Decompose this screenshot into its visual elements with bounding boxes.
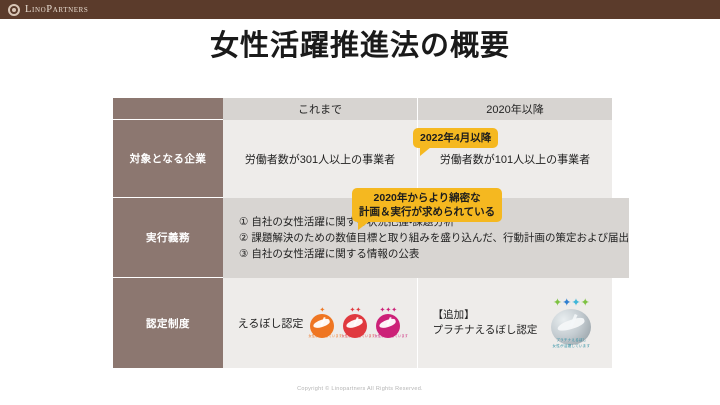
swirl-circle-icon (8, 4, 20, 16)
table-row: 対象となる企業 労働者数が301人以上の事業者 労働者数が101人以上の事業者 (113, 120, 612, 198)
eruboshi-badge-1-arc: 女性が活躍しています (308, 332, 336, 340)
table-header-row: これまで 2020年以降 (113, 98, 612, 120)
table-header-corner (113, 98, 223, 120)
eruboshi-badge-3-icon: ✦✦✦ 女性が活躍しています (374, 306, 402, 340)
platinum-badge-arc-line2: 女性が活躍しています (552, 344, 590, 348)
platinum-group: 【追加】 プラチナえるぼし認定 ✦✦✦✦ プラチナえるぼし女性が活躍しています (418, 295, 612, 351)
eruboshi-badge-3-arc: 女性が活躍しています (374, 332, 402, 340)
table-header-col-b: 2020年以降 (417, 98, 612, 120)
duty-item-3: ③ 自社の女性活躍に関する情報の公表 (239, 246, 629, 262)
table-row: 認定制度 えるぼし認定 ✦ 女性が活躍しています ✦✦ 女性が活躍しています ✦… (113, 278, 612, 368)
footer-copyright: Copyright © Linopartners All Rights Rese… (0, 386, 720, 392)
row-certification-after: 【追加】 プラチナえるぼし認定 ✦✦✦✦ プラチナえるぼし女性が活躍しています (417, 278, 612, 368)
callout-2020-line2: 計画＆実行が求められている (359, 206, 495, 218)
eruboshi-badge-2-icon: ✦✦ 女性が活躍しています (341, 306, 369, 340)
platinum-badge-arc-line1: プラチナえるぼし (556, 338, 586, 342)
eruboshi-group: えるぼし認定 ✦ 女性が活躍しています ✦✦ 女性が活躍しています ✦✦✦ 女性… (223, 306, 417, 340)
overview-table: これまで 2020年以降 対象となる企業 労働者数が301人以上の事業者 労働者… (113, 98, 612, 368)
row-target-companies-before: 労働者数が301人以上の事業者 (223, 120, 417, 198)
callout-2020-line1: 2020年からより綿密な (374, 192, 481, 204)
platinum-label-line1: 【追加】 (433, 309, 475, 321)
brand-name: LinoPartners (25, 4, 88, 15)
row-label-duties: 実行義務 (113, 198, 223, 278)
eruboshi-label: えるぼし認定 (238, 315, 304, 331)
platinum-label-line2: プラチナえるぼし認定 (433, 324, 538, 336)
eruboshi-badge-1-icon: ✦ 女性が活躍しています (308, 306, 336, 340)
row-certification-before: えるぼし認定 ✦ 女性が活躍しています ✦✦ 女性が活躍しています ✦✦✦ 女性… (223, 278, 417, 368)
platinum-eruboshi-badge-icon: ✦✦✦✦ プラチナえるぼし女性が活躍しています (545, 295, 597, 351)
duty-item-2: ② 課題解決のための数値目標と取り組みを盛り込んだ、行動計画の策定および届出 (239, 230, 629, 246)
brand-bar: LinoPartners (0, 0, 720, 19)
callout-2020-detailed-plan: 2020年からより綿密な 計画＆実行が求められている (352, 188, 502, 222)
row-label-certification: 認定制度 (113, 278, 223, 368)
page-title: 女性活躍推進法の概要 (0, 22, 720, 64)
platinum-label: 【追加】 プラチナえるぼし認定 (433, 308, 538, 338)
eruboshi-badge-2-arc: 女性が活躍しています (341, 332, 369, 340)
table-header-col-a: これまで (223, 98, 417, 120)
row-label-target-companies: 対象となる企業 (113, 120, 223, 198)
platinum-badge-arc: プラチナえるぼし女性が活躍しています (545, 337, 597, 351)
callout-2022-april: 2022年4月以降 (413, 128, 498, 148)
